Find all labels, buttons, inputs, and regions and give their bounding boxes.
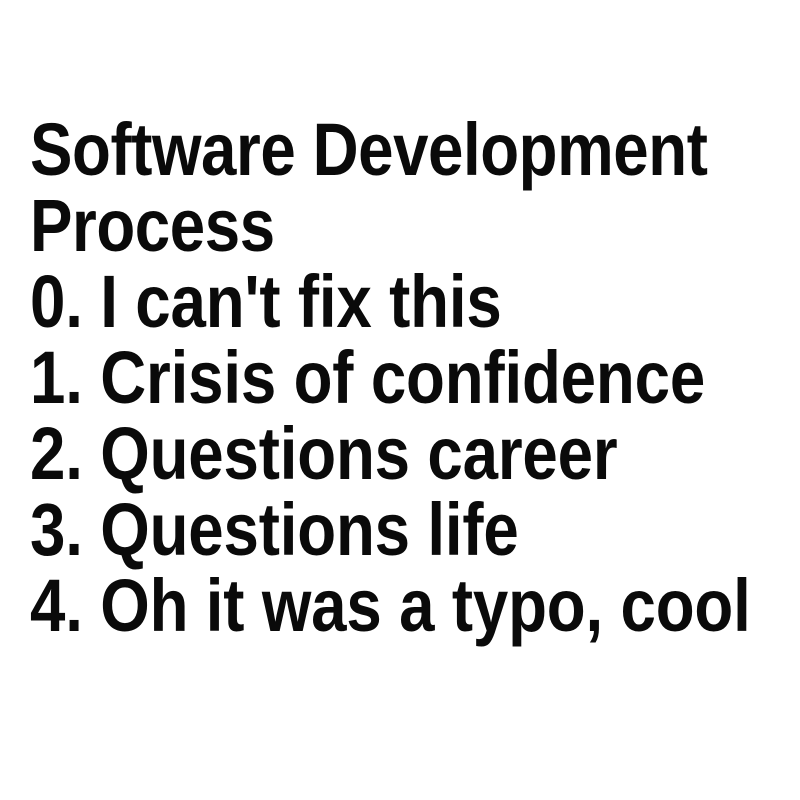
process-step-3: 3. Questions life <box>30 492 682 568</box>
title-line-1: Software Development <box>30 112 682 188</box>
process-step-0: 0. I can't fix this <box>30 264 682 340</box>
text-block: Software Development Process 0. I can't … <box>30 112 788 644</box>
title-line-2: Process <box>30 188 682 264</box>
process-step-4: 4. Oh it was a typo, cool <box>30 568 682 644</box>
meme-poster: Software Development Process 0. I can't … <box>0 0 800 800</box>
process-step-1: 1. Crisis of confidence <box>30 340 682 416</box>
process-step-2: 2. Questions career <box>30 416 682 492</box>
